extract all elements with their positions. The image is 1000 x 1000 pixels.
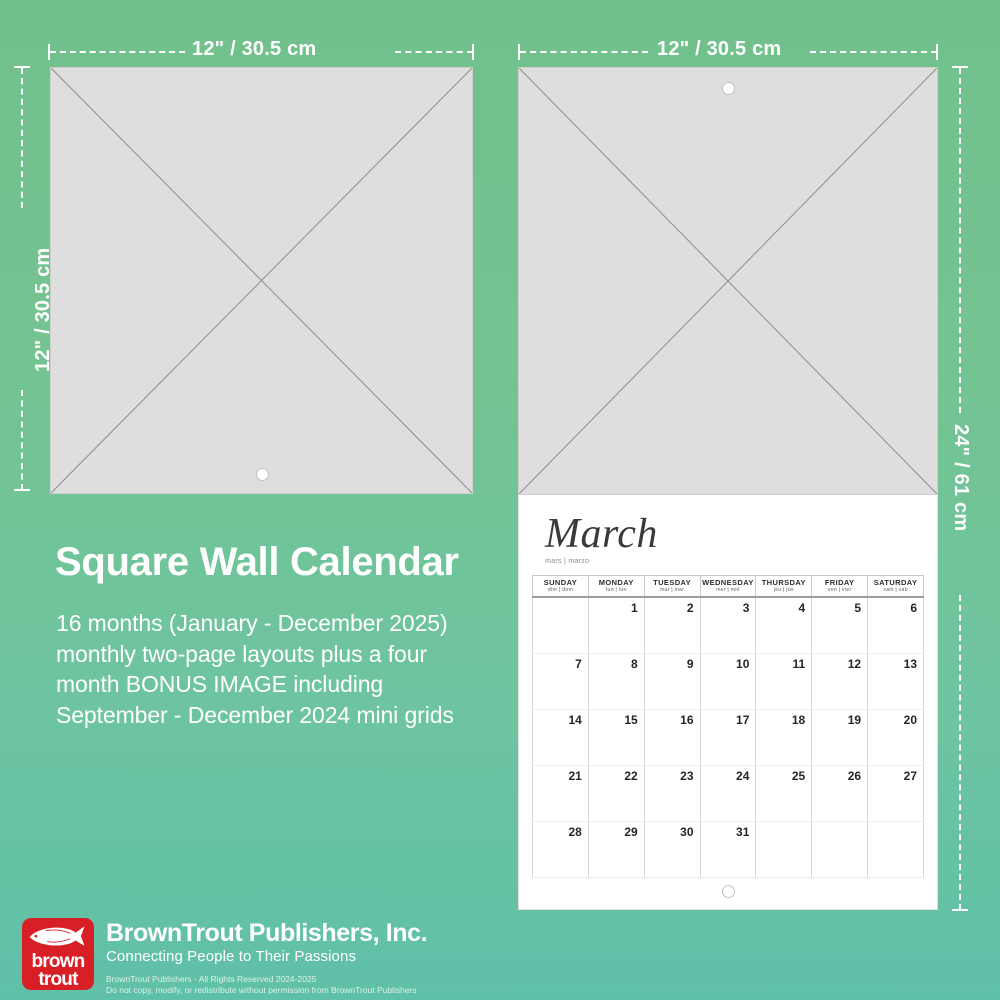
weekday-header-row: SUNDAYdim | domMONDAYlun | lunTUESDAYmar… [533, 576, 924, 598]
weekday-name: THURSDAY [756, 579, 811, 587]
legal-line-1: BrownTrout Publishers - All Rights Reser… [106, 974, 427, 985]
date-cell-empty [756, 821, 812, 877]
weekday-header-monday: MONDAYlun | lun [588, 576, 644, 598]
date-cell-16: 16 [644, 709, 700, 765]
date-cell-8: 8 [588, 653, 644, 709]
date-cell-5: 5 [812, 597, 868, 653]
week-row: 123456 [533, 597, 924, 653]
legal-notice: BrownTrout Publishers - All Rights Reser… [106, 974, 427, 997]
date-cell-26: 26 [812, 765, 868, 821]
dim-dash-left-a [50, 51, 185, 53]
browntrout-logo[interactable]: brown trout [22, 918, 94, 990]
trout-fish-icon [26, 922, 90, 952]
dim-dash-right-a [520, 51, 648, 53]
dim-dash-left-b [395, 51, 473, 53]
weekday-name-translations: ven | vier [812, 587, 867, 593]
date-cell-25: 25 [756, 765, 812, 821]
calendar-grid-page: March mars | marzo SUNDAYdim | domMONDAY… [518, 495, 938, 910]
description-line-1: 16 months (January - December 2025) [56, 608, 526, 639]
weekday-name: TUESDAY [645, 579, 700, 587]
product-description: 16 months (January - December 2025) mont… [56, 608, 526, 730]
date-cell-20: 20 [868, 709, 924, 765]
placeholder-x-lines-2 [519, 68, 937, 494]
week-row: 14151617181920 [533, 709, 924, 765]
weekday-name-translations: lun | lun [589, 587, 644, 593]
date-cell-7: 7 [533, 653, 589, 709]
weekday-name-translations: sam | sáb [868, 587, 923, 593]
date-cell-30: 30 [644, 821, 700, 877]
publisher-tagline: Connecting People to Their Passions [106, 947, 427, 967]
date-cell-19: 19 [812, 709, 868, 765]
date-cell-18: 18 [756, 709, 812, 765]
date-cell-2: 2 [644, 597, 700, 653]
date-cell-24: 24 [700, 765, 756, 821]
calendar-open-image-placeholder [518, 67, 938, 495]
month-header: March mars | marzo [519, 495, 937, 565]
dim-dash-v2-a [959, 68, 961, 413]
date-cell-4: 4 [756, 597, 812, 653]
dimension-right-width-label: 12" / 30.5 cm [657, 38, 781, 61]
date-cell-13: 13 [868, 653, 924, 709]
date-cell-6: 6 [868, 597, 924, 653]
weekday-name-translations: dim | dom [533, 587, 588, 593]
product-headline: Square Wall Calendar [55, 542, 459, 582]
date-cell-1: 1 [588, 597, 644, 653]
weekday-header-tuesday: TUESDAYmar | mar [644, 576, 700, 598]
date-cell-3: 3 [700, 597, 756, 653]
hang-hole-right-panel-bottom [722, 885, 735, 898]
date-cell-empty [812, 821, 868, 877]
date-cell-empty [868, 821, 924, 877]
date-cell-31: 31 [700, 821, 756, 877]
month-grid-wrap: SUNDAYdim | domMONDAYlun | lunTUESDAYmar… [519, 565, 937, 878]
date-cell-28: 28 [533, 821, 589, 877]
date-cell-9: 9 [644, 653, 700, 709]
hang-hole-right-panel-top [722, 82, 735, 95]
weekday-name-translations: mar | mar [645, 587, 700, 593]
description-line-3: month BONUS IMAGE including [56, 669, 526, 700]
date-cell-11: 11 [756, 653, 812, 709]
publisher-name: BrownTrout Publishers, Inc. [106, 920, 427, 946]
weekday-header-friday: FRIDAYven | vier [812, 576, 868, 598]
date-cell-10: 10 [700, 653, 756, 709]
month-title: March [545, 513, 937, 555]
date-cell-23: 23 [644, 765, 700, 821]
date-cell-29: 29 [588, 821, 644, 877]
weekday-row: SUNDAYdim | domMONDAYlun | lunTUESDAYmar… [533, 576, 924, 598]
hang-hole-left-panel [256, 468, 269, 481]
weekday-name-translations: mer | mié [701, 587, 756, 593]
legal-line-2: Do not copy, modify, or redistribute wit… [106, 985, 427, 996]
dim-dash-v2-b [959, 595, 961, 910]
weekday-name: FRIDAY [812, 579, 867, 587]
date-cell-27: 27 [868, 765, 924, 821]
date-cell-15: 15 [588, 709, 644, 765]
weekday-header-thursday: THURSDAYjeu | jue [756, 576, 812, 598]
weekday-name: MONDAY [589, 579, 644, 587]
calendar-cover-image-placeholder [50, 67, 473, 494]
dim-cap-right-2 [936, 44, 938, 60]
dim-cap-bottom-v [14, 489, 30, 491]
dimension-left-width-label: 12" / 30.5 cm [192, 38, 316, 61]
logo-word-trout: trout [22, 970, 94, 989]
week-row: 78910111213 [533, 653, 924, 709]
dim-dash-v-a [21, 68, 23, 208]
weekday-name-translations: jeu | jue [756, 587, 811, 593]
date-cell-12: 12 [812, 653, 868, 709]
footer-text-block: BrownTrout Publishers, Inc. Connecting P… [106, 918, 427, 997]
date-cell-21: 21 [533, 765, 589, 821]
description-line-4: September - December 2024 mini grids [56, 700, 526, 731]
date-cell-14: 14 [533, 709, 589, 765]
dim-dash-v-b [21, 390, 23, 490]
date-cell-17: 17 [700, 709, 756, 765]
week-row: 28293031 [533, 821, 924, 877]
footer-branding: brown trout BrownTrout Publishers, Inc. … [22, 918, 427, 997]
month-subtitle: mars | marzo [545, 558, 937, 565]
weekday-header-sunday: SUNDAYdim | dom [533, 576, 589, 598]
weekday-name: WEDNESDAY [701, 579, 756, 587]
dim-cap-bottom-v2 [952, 909, 968, 911]
dim-dash-right-b [810, 51, 937, 53]
dim-cap-right [472, 44, 474, 60]
description-line-2: monthly two-page layouts plus a four [56, 639, 526, 670]
week-row: 21222324252627 [533, 765, 924, 821]
date-cell-empty [533, 597, 589, 653]
date-rows: 1234567891011121314151617181920212223242… [533, 597, 924, 877]
month-grid-table: SUNDAYdim | domMONDAYlun | lunTUESDAYmar… [532, 575, 924, 878]
weekday-name: SATURDAY [868, 579, 923, 587]
placeholder-x-lines [51, 68, 472, 493]
weekday-header-wednesday: WEDNESDAYmer | mié [700, 576, 756, 598]
date-cell-22: 22 [588, 765, 644, 821]
weekday-name: SUNDAY [533, 579, 588, 587]
dimension-right-height-label: 24" / 61 cm [949, 424, 972, 531]
weekday-header-saturday: SATURDAYsam | sáb [868, 576, 924, 598]
